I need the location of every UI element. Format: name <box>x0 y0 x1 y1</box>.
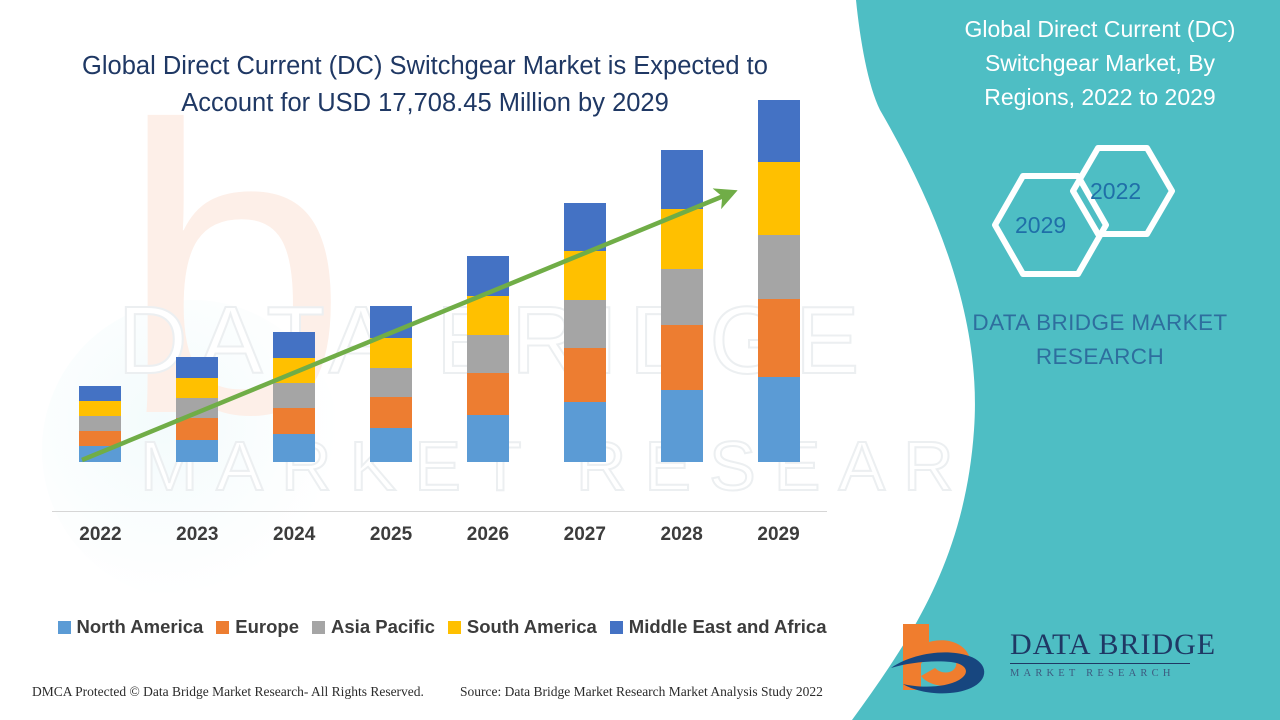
bar-segment <box>661 325 703 390</box>
legend-label: North America <box>77 616 204 638</box>
x-axis-label: 2029 <box>731 524 827 546</box>
stacked-bar <box>176 357 218 462</box>
bar-segment <box>661 269 703 325</box>
hexagon-outlines <box>960 138 1260 283</box>
legend-swatch <box>58 621 71 634</box>
logo-divider <box>1010 663 1190 664</box>
bar-segment <box>467 296 509 335</box>
bar-segment <box>273 332 315 358</box>
infographic-canvas: b DATA BRIDGE MARKET RESEARCH Global Dir… <box>0 0 1280 720</box>
x-axis-label: 2022 <box>52 524 148 546</box>
x-axis-label: 2023 <box>149 524 245 546</box>
bar-segment <box>370 428 412 462</box>
x-axis-label: 2027 <box>537 524 633 546</box>
hexagon-badges: 2029 2022 <box>960 138 1260 283</box>
bar-segment <box>758 299 800 377</box>
bar-segment <box>564 402 606 462</box>
legend-swatch <box>610 621 623 634</box>
bar-segment <box>370 338 412 368</box>
bar-segment <box>370 397 412 428</box>
bar-segment <box>661 390 703 462</box>
legend-item[interactable]: South America <box>448 616 597 638</box>
stacked-bar <box>273 332 315 462</box>
bar-segment <box>273 383 315 407</box>
footer-copyright: DMCA Protected © Data Bridge Market Rese… <box>32 684 424 700</box>
stacked-bar <box>467 256 509 462</box>
stacked-bar <box>661 150 703 463</box>
stacked-bar-chart: 20222023202420252026202720282029 <box>52 150 827 562</box>
bar-segment <box>758 377 800 462</box>
legend-item[interactable]: Asia Pacific <box>312 616 435 638</box>
bar-segment <box>176 398 218 418</box>
bar-segment <box>758 162 800 235</box>
stacked-bar <box>79 386 121 462</box>
logo-sub-text: MARKET RESEARCH <box>1010 668 1216 679</box>
bar-segment <box>564 203 606 252</box>
logo-main-text: DATA BRIDGE <box>1010 628 1216 662</box>
x-axis-label: 2026 <box>440 524 536 546</box>
bar-segment <box>564 348 606 402</box>
stacked-bar <box>370 306 412 462</box>
bar-segment <box>79 446 121 462</box>
legend-item[interactable]: North America <box>58 616 204 638</box>
legend-swatch <box>448 621 461 634</box>
chart-legend: North AmericaEuropeAsia PacificSouth Ame… <box>52 616 832 638</box>
legend-item[interactable]: Middle East and Africa <box>610 616 827 638</box>
hex-label-2022: 2022 <box>1090 178 1141 205</box>
bar-segment <box>564 251 606 300</box>
bar-segment <box>467 256 509 296</box>
legend-swatch <box>216 621 229 634</box>
bar-segment <box>467 373 509 416</box>
data-bridge-logo: DATA BRIDGE MARKET RESEARCH <box>885 612 1225 698</box>
stacked-bar <box>564 203 606 462</box>
legend-item[interactable]: Europe <box>216 616 299 638</box>
logo-wordmark: DATA BRIDGE MARKET RESEARCH <box>1010 628 1216 679</box>
bar-segment <box>79 386 121 401</box>
bar-segment <box>467 335 509 373</box>
bar-segment <box>467 415 509 462</box>
legend-swatch <box>312 621 325 634</box>
panel-title: Global Direct Current (DC) Switchgear Ma… <box>940 12 1260 114</box>
stacked-bar <box>758 100 800 462</box>
chart-plot-area <box>52 150 827 512</box>
x-axis-label: 2024 <box>246 524 342 546</box>
bar-segment <box>758 235 800 299</box>
logo-mark-icon <box>885 612 1015 698</box>
x-axis-label: 2025 <box>343 524 439 546</box>
bar-segment <box>273 358 315 383</box>
bar-segment <box>370 306 412 338</box>
bar-segment <box>661 150 703 209</box>
bar-segment <box>661 209 703 269</box>
right-panel: Global Direct Current (DC) Switchgear Ma… <box>940 0 1280 720</box>
bar-segment <box>79 401 121 417</box>
footer: DMCA Protected © Data Bridge Market Rese… <box>0 684 860 714</box>
legend-label: Asia Pacific <box>331 616 435 638</box>
bar-segment <box>273 434 315 462</box>
bar-segment <box>79 416 121 431</box>
bar-segment <box>370 368 412 397</box>
legend-label: Middle East and Africa <box>629 616 827 638</box>
bar-segment <box>176 357 218 377</box>
bar-segment <box>176 440 218 462</box>
x-axis-label: 2028 <box>634 524 730 546</box>
bar-segment <box>273 408 315 434</box>
legend-label: Europe <box>235 616 299 638</box>
hex-label-2029: 2029 <box>1015 212 1066 239</box>
bar-segment <box>564 300 606 348</box>
page-title: Global Direct Current (DC) Switchgear Ma… <box>80 48 770 122</box>
bar-segment <box>79 431 121 447</box>
footer-source: Source: Data Bridge Market Research Mark… <box>460 684 823 700</box>
bar-segment <box>176 418 218 439</box>
panel-brand-text: DATA BRIDGE MARKET RESEARCH <box>940 306 1260 374</box>
legend-label: South America <box>467 616 597 638</box>
bar-segment <box>176 378 218 398</box>
